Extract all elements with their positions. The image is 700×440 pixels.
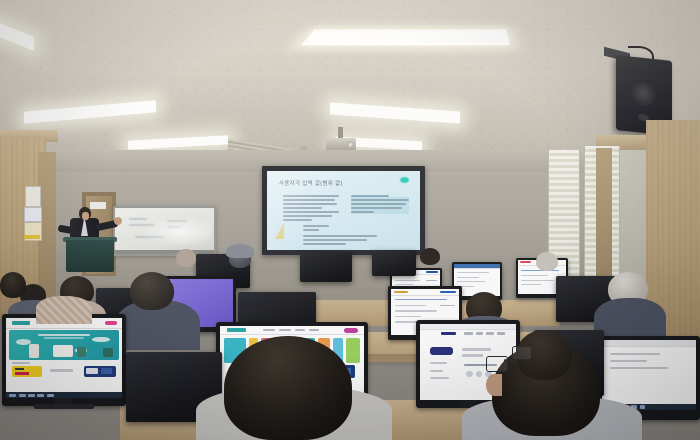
student-row2-center-head [130, 272, 174, 310]
site-logo[interactable] [227, 328, 246, 332]
door-sign [90, 202, 106, 209]
site-logo[interactable] [12, 321, 31, 325]
ceiling-light-panel-1 [301, 29, 510, 45]
student-foreground-left-head [0, 272, 26, 298]
student-row3-right-head [420, 248, 440, 265]
student-row3-left-shoulders [36, 296, 92, 324]
podium [66, 240, 114, 272]
promo-card-yellow[interactable] [12, 366, 42, 377]
slide-note-lines [303, 225, 357, 233]
hero-subline [44, 337, 83, 339]
instructor-face [82, 212, 89, 220]
student-row3-left-head [176, 249, 196, 267]
monitor-front-left-screen[interactable] [6, 318, 122, 398]
student-row3-center-cap [226, 244, 254, 258]
classroom-photo: 사용자가 입력 값(범위 값) [0, 0, 700, 440]
nav-item[interactable] [295, 329, 305, 331]
hero-illustration-figure [103, 348, 113, 357]
wall-notice-3-stripe [24, 235, 40, 239]
content-block[interactable] [346, 338, 360, 362]
rating-icon[interactable] [466, 371, 473, 377]
promo-card-navy[interactable] [84, 366, 116, 377]
taskbar-icon[interactable] [640, 405, 646, 409]
hero-illustration-figure [53, 345, 73, 357]
slide-title: 사용자가 입력 값(범위 값) [279, 179, 343, 187]
slide-right-column [351, 195, 409, 215]
cta-pill-button[interactable] [105, 321, 118, 325]
nav-item[interactable] [464, 332, 473, 334]
monitor-back-rear-2 [300, 252, 352, 282]
nav-item[interactable] [486, 332, 494, 334]
hero-illustration-figure [77, 347, 86, 358]
projection-screen: 사용자가 입력 값(범위 값) [267, 171, 420, 250]
nav-item[interactable] [309, 329, 319, 331]
slide-accent-shape [400, 177, 409, 183]
nav-item[interactable] [497, 332, 506, 334]
taskbar-icon[interactable] [47, 394, 54, 397]
slide-left-column [283, 195, 339, 223]
slide-footer-lines [303, 235, 377, 247]
nav-item[interactable] [279, 329, 291, 331]
taskbar-icon[interactable] [19, 394, 26, 397]
nav-item[interactable] [476, 332, 484, 334]
projector-lens-icon [347, 141, 354, 148]
monitor-front-far-right-screen[interactable] [602, 340, 696, 410]
rating-icon[interactable] [476, 371, 483, 377]
wall-notice-2 [24, 207, 42, 222]
taskbar-icon[interactable] [37, 394, 44, 397]
wall-notice-1 [25, 186, 41, 207]
cta-pill-button[interactable] [344, 328, 358, 332]
site-logo[interactable] [441, 332, 456, 336]
taskbar-icon[interactable] [9, 394, 16, 397]
student-foreground-center-head [224, 336, 352, 440]
hero-banner [9, 330, 118, 360]
speaker-woofer-icon [630, 79, 656, 108]
student-foreground-right-ear [486, 374, 502, 396]
monitor-front-left[interactable] [2, 314, 126, 406]
hero-headline [38, 334, 90, 336]
taskbar-icon[interactable] [28, 394, 35, 397]
hero-illustration-figure [29, 344, 39, 358]
eyeglasses-icon-2 [512, 346, 532, 360]
student-back-right-head [536, 252, 558, 271]
nav-item[interactable] [263, 329, 275, 331]
monitor-back-rear-3 [372, 250, 416, 276]
instructor-right-hand [114, 217, 122, 225]
primary-submit-button[interactable] [430, 347, 453, 355]
whiteboard-glare [113, 206, 212, 252]
slide-triangle-shape [275, 223, 284, 239]
